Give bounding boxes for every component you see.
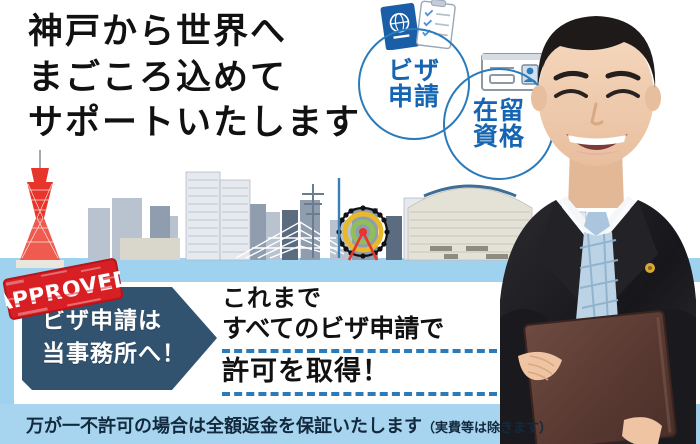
guarantee-message: これまで すべてのビザ申請で 許可を取得！ (222, 286, 502, 400)
message-line-3: 許可を取得！ (222, 357, 502, 387)
arrow-banner-line-2: 当事務所へ！ (42, 338, 186, 371)
businessman-portrait (492, 0, 700, 444)
message-line-2: すべてのビザ申請で (222, 315, 502, 344)
message-line-1: これまで (222, 286, 502, 311)
refund-guarantee-note: （実費等は除きます） (422, 421, 552, 436)
circle-visa-line-2: 申請 (388, 84, 440, 110)
arrow-banner-text: ビザ申請は 当事務所へ！ (42, 305, 186, 372)
refund-guarantee-main: 万が一不許可の場合は全額返金を保証いたします (26, 416, 422, 437)
dashed-divider-top (222, 349, 497, 353)
circle-visa-line-1: ビザ (388, 58, 440, 84)
dashed-divider-bottom (222, 392, 497, 396)
refund-guarantee-text: 万が一不許可の場合は全額返金を保証いたします（実費等は除きます） (26, 412, 552, 438)
visa-service-banner: 神戸から世界へ まごころ込めて サポートいたします (0, 0, 700, 444)
headline-line-3: サポートいたします (28, 101, 418, 147)
headline-line-1: 神戸から世界へ (28, 10, 418, 56)
